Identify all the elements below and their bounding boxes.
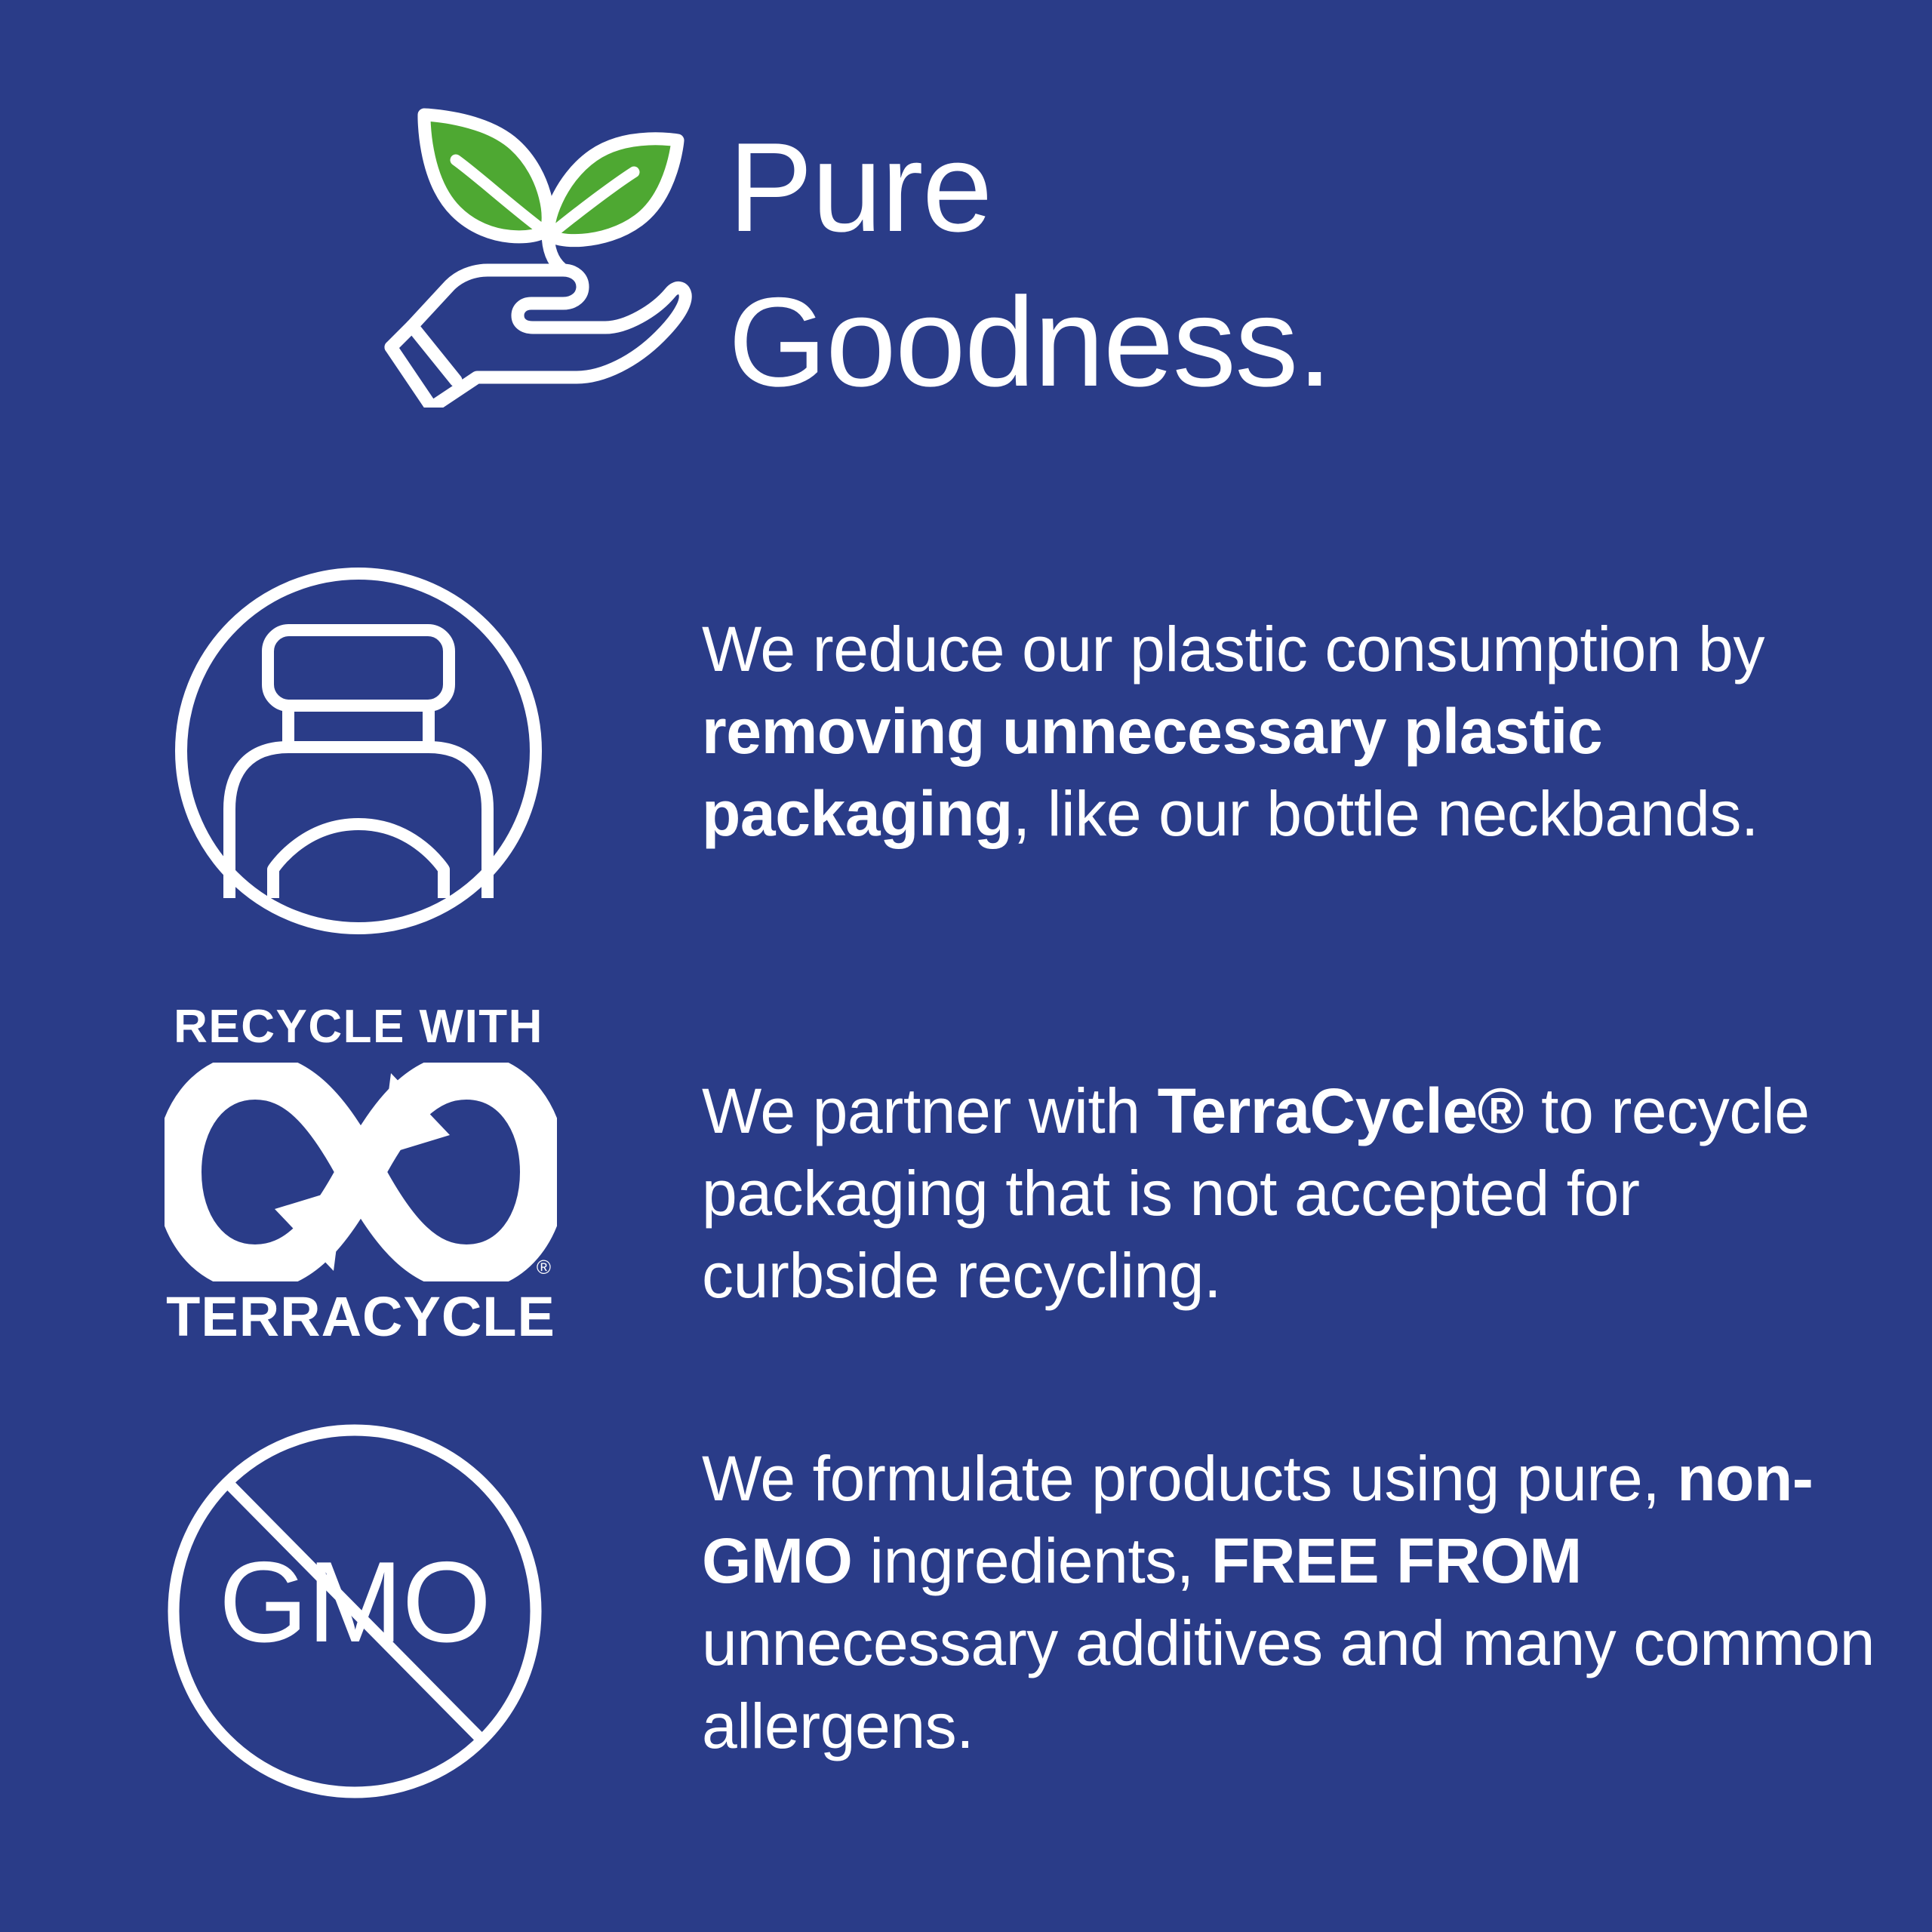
text-segment: We formulate products using pure, — [702, 1443, 1677, 1514]
svg-text:GMO: GMO — [219, 1538, 491, 1666]
bottle-neckband-icon — [151, 543, 574, 966]
brand-header: Pure Goodness. — [377, 106, 1660, 423]
text-segment: ingredients, — [852, 1525, 1211, 1596]
feature-text-plastic-reduction: We reduce our plastic consumption by rem… — [574, 543, 1887, 856]
no-gmo-icon: GMO — [151, 1407, 574, 1830]
terracycle-badge-bottom-label: TERRACYCLE — [165, 1289, 557, 1345]
text-segment-bold: TerraCycle® — [1158, 1075, 1524, 1146]
text-segment: unnecessary additives and many common al… — [702, 1607, 1875, 1761]
text-segment: We partner with — [702, 1075, 1158, 1146]
hand-holding-sprout-icon — [377, 106, 694, 408]
feature-text-terracycle: We partner with TerraCycle® to recycle p… — [574, 1004, 1887, 1318]
feature-row-terracycle: RECYCLE WITH ® TERRACYCLE We partner wit… — [151, 1004, 1887, 1336]
terracycle-logo: RECYCLE WITH ® TERRACYCLE — [151, 1004, 574, 1336]
text-segment: We reduce our plastic consumption by — [702, 614, 1764, 685]
registered-mark-icon: ® — [537, 1257, 551, 1277]
text-segment-bold: FREE FROM — [1211, 1525, 1582, 1596]
feature-row-non-gmo: GMO We formulate products using pure, no… — [151, 1407, 1887, 1830]
feature-row-plastic-reduction: We reduce our plastic consumption by rem… — [151, 543, 1887, 966]
text-segment: , like our bottle neckbands. — [1013, 778, 1758, 849]
terracycle-badge-top-label: RECYCLE WITH — [170, 1004, 547, 1051]
pure-goodness-infographic: Pure Goodness. We reduce our plastic con… — [0, 0, 1932, 1932]
page-title: Pure Goodness. — [728, 106, 1331, 420]
feature-text-non-gmo: We formulate products using pure, non-GM… — [574, 1407, 1887, 1767]
terracycle-infinity-icon: ® — [165, 1063, 557, 1281]
